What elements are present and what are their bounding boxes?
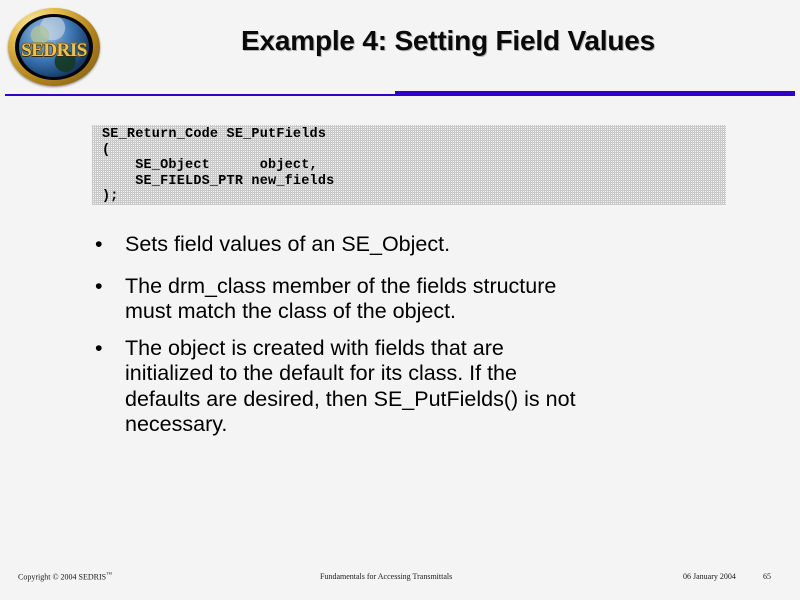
code-block: SE_Return_Code SE_PutFields ( SE_Object … xyxy=(92,125,726,205)
code-signature: SE_Return_Code SE_PutFields ( SE_Object … xyxy=(102,127,334,205)
logo-wordmark: SEDRIS xyxy=(15,41,93,60)
header-divider-left xyxy=(5,94,395,96)
footer-subject: Fundamentals for Accessing Transmittals xyxy=(320,572,452,581)
list-item-text: The object is created with fields that a… xyxy=(125,336,748,438)
footer-trademark-icon: ™ xyxy=(106,572,112,578)
list-item: • The drm_class member of the fields str… xyxy=(88,274,748,325)
slide-canvas: SEDRIS ® Example 4: Setting Field Values… xyxy=(0,0,800,600)
list-item-text: Sets field values of an SE_Object. xyxy=(125,232,748,258)
bullet-marker-icon: • xyxy=(95,232,103,258)
footer-page-number: 65 xyxy=(763,572,771,581)
slide-header: SEDRIS ® Example 4: Setting Field Values xyxy=(0,0,800,95)
slide-footer: Copyright © 2004 SEDRIS™ Fundamentals fo… xyxy=(0,560,800,600)
footer-copyright-text: Copyright © 2004 SEDRIS xyxy=(18,573,106,582)
list-item: • The object is created with fields that… xyxy=(88,336,748,438)
logo-disc: SEDRIS ® xyxy=(15,14,93,80)
footer-date: 06 January 2004 xyxy=(683,572,736,581)
bullet-list: • Sets field values of an SE_Object. • T… xyxy=(88,232,748,438)
page-title: Example 4: Setting Field Values xyxy=(112,25,784,57)
list-item-text: The drm_class member of the fields struc… xyxy=(125,274,748,325)
header-divider-right xyxy=(395,91,795,96)
bullet-marker-icon: • xyxy=(95,274,103,300)
footer-copyright: Copyright © 2004 SEDRIS™ xyxy=(18,572,112,582)
list-item: • Sets field values of an SE_Object. xyxy=(88,232,748,258)
logo-trademark: ® xyxy=(77,54,81,59)
bullet-marker-icon: • xyxy=(95,336,103,362)
sedris-logo: SEDRIS ® xyxy=(8,8,100,86)
